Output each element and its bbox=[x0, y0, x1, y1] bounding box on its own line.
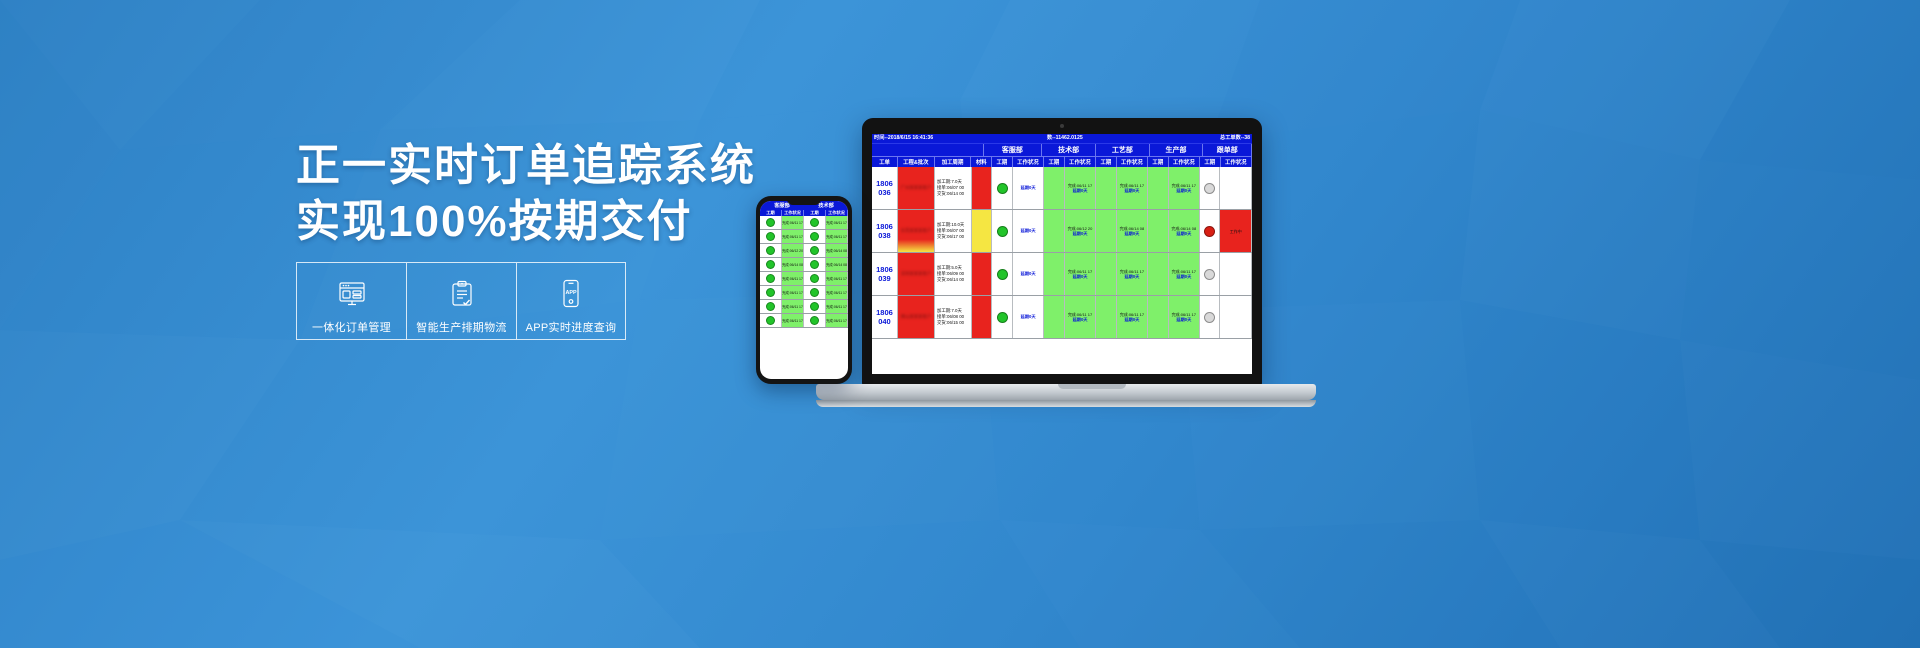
duration-cell-3[interactable] bbox=[1096, 253, 1116, 295]
phone-status-dot-1[interactable] bbox=[766, 246, 775, 255]
hero-copy: 正一实时订单追踪系统 实现100%按期交付 bbox=[296, 138, 716, 250]
work-status-cell-3[interactable]: 完成:06/11 17延期0天 bbox=[1117, 253, 1149, 295]
phone-status-cell-1[interactable]: 完成:06/11 17 bbox=[782, 286, 804, 299]
phone-duration-cell-1[interactable] bbox=[760, 272, 782, 285]
mobile-app-icon: APP bbox=[560, 276, 582, 312]
material-status-cell[interactable] bbox=[972, 210, 992, 252]
phone-duration-cell-1[interactable] bbox=[760, 216, 782, 229]
phone-status-dot-1[interactable] bbox=[766, 302, 775, 311]
dashboard-body[interactable]: 1806036广州某某某客户加工期:7.0天接单:06/07 00交货:06/1… bbox=[872, 167, 1252, 339]
phone-status-cell-1[interactable]: 完成:06/11 17 bbox=[782, 300, 804, 313]
phone-duration-cell-2[interactable] bbox=[804, 258, 826, 271]
phone-status-dot-1[interactable] bbox=[766, 288, 775, 297]
phone-status-cell-2[interactable]: 完成:06/11 17 bbox=[826, 230, 848, 243]
phone-duration-cell-2[interactable] bbox=[804, 314, 826, 327]
material-status-cell[interactable] bbox=[972, 167, 992, 209]
phone-status-dot-2[interactable] bbox=[810, 246, 819, 255]
phone-status-dot-2[interactable] bbox=[810, 302, 819, 311]
work-status-cell-1[interactable]: 延期0天 bbox=[1013, 296, 1045, 338]
duration-cell-4[interactable] bbox=[1148, 253, 1168, 295]
duration-cell-3[interactable] bbox=[1096, 210, 1116, 252]
duration-cell-3[interactable] bbox=[1096, 167, 1116, 209]
phone-dashboard-body[interactable]: 完成:06/11 17完成:06/11 17完成:06/11 17完成:06/1… bbox=[760, 216, 848, 328]
feature-box-app-progress[interactable]: APP APP实时进度查询 bbox=[516, 262, 626, 340]
duration-cell-5[interactable] bbox=[1200, 296, 1220, 338]
column-header-6[interactable]: 工作状况 bbox=[1013, 156, 1044, 167]
phone-list-item[interactable]: 完成:06/11 17完成:06/11 17 bbox=[760, 272, 848, 286]
duration-cell-4[interactable] bbox=[1148, 296, 1168, 338]
phone-duration-cell-2[interactable] bbox=[804, 286, 826, 299]
phone-notch bbox=[787, 199, 821, 205]
column-header-4[interactable]: 材料 bbox=[971, 156, 992, 167]
feature-box-group: 一体化订单管理 智能生产排期物流 bbox=[296, 262, 626, 340]
work-status-cell-4[interactable]: 完成:06/11 17延期0天 bbox=[1169, 167, 1201, 209]
phone-status-cell-2[interactable]: 完成:06/14 08 bbox=[826, 244, 848, 257]
column-header-14[interactable]: 工作状况 bbox=[1221, 156, 1252, 167]
phone-status-dot-2[interactable] bbox=[810, 218, 819, 227]
feature-label-app-progress: APP实时进度查询 bbox=[526, 319, 617, 335]
work-status-cell-3[interactable]: 完成:06/14 08延期0天 bbox=[1117, 210, 1149, 252]
order-tracking-dashboard: 时间--2018/6/15 16:41:36 数--11462.0125 总工单… bbox=[872, 134, 1252, 374]
table-row[interactable]: 1806039深圳某某某客户加工期:5.0天接单:06/09 00交货:06/1… bbox=[872, 253, 1252, 296]
duration-cell-3[interactable] bbox=[1096, 296, 1116, 338]
status-indicator-dot[interactable] bbox=[1204, 269, 1215, 280]
feature-label-order-management: 一体化订单管理 bbox=[312, 319, 391, 335]
phone-status-dot-2[interactable] bbox=[810, 260, 819, 269]
phone-list-item[interactable]: 完成:06/11 17完成:06/11 17 bbox=[760, 286, 848, 300]
status-indicator-dot[interactable] bbox=[997, 312, 1008, 323]
laptop-base-front bbox=[816, 400, 1316, 407]
order-number-cell[interactable]: 1806039 bbox=[872, 253, 898, 295]
phone-status-cell-1[interactable]: 完成:06/11 17 bbox=[782, 272, 804, 285]
phone-duration-cell-2[interactable] bbox=[804, 244, 826, 257]
work-status-cell-1[interactable]: 延期0天 bbox=[1013, 210, 1045, 252]
processing-cycle-cell[interactable]: 加工期:5.0天接单:06/09 00交货:06/14 00 bbox=[935, 253, 972, 295]
phone-duration-cell-1[interactable] bbox=[760, 244, 782, 257]
work-status-cell-3[interactable]: 完成:06/11 17延期0天 bbox=[1117, 167, 1149, 209]
status-indicator-dot[interactable] bbox=[1204, 226, 1215, 237]
feature-box-order-management[interactable]: 一体化订单管理 bbox=[296, 262, 406, 340]
dashboard-meta-row: 时间--2018/6/15 16:41:36 数--11462.0125 总工单… bbox=[872, 134, 1252, 143]
phone-list-item[interactable]: 完成:06/11 17完成:06/11 17 bbox=[760, 216, 848, 230]
phone-status-cell-2[interactable]: 完成:06/11 17 bbox=[826, 314, 848, 327]
column-header-3[interactable]: 加工周期 bbox=[935, 156, 972, 167]
material-status-cell[interactable] bbox=[972, 253, 992, 295]
phone-status-cell-1[interactable]: 完成:06/11 17 bbox=[782, 216, 804, 229]
laptop-screen: 时间--2018/6/15 16:41:36 数--11462.0125 总工单… bbox=[872, 134, 1252, 374]
phone-status-dot-1[interactable] bbox=[766, 316, 775, 325]
department-spacer bbox=[872, 144, 984, 156]
phone-status-dot-2[interactable] bbox=[810, 232, 819, 241]
phone-status-dot-1[interactable] bbox=[766, 232, 775, 241]
phone-status-dot-2[interactable] bbox=[810, 274, 819, 283]
project-batch-cell[interactable]: 广州某某某客户 bbox=[898, 167, 935, 209]
duration-cell-1[interactable] bbox=[992, 167, 1012, 209]
department-header-row: 客服部技术部工艺部生产部跟单部 bbox=[872, 143, 1252, 156]
material-status-cell[interactable] bbox=[972, 296, 992, 338]
phone-status-dot-2[interactable] bbox=[810, 316, 819, 325]
order-number-cell[interactable]: 1806038 bbox=[872, 210, 898, 252]
table-row[interactable]: 1806036广州某某某客户加工期:7.0天接单:06/07 00交货:06/1… bbox=[872, 167, 1252, 210]
table-row[interactable]: 1806038东莞某某某客户加工期:10.0天接单:06/07 00交货:06/… bbox=[872, 210, 1252, 253]
duration-cell-1[interactable] bbox=[992, 210, 1012, 252]
column-header-13[interactable]: 工期 bbox=[1200, 156, 1221, 167]
duration-cell-2[interactable] bbox=[1044, 167, 1064, 209]
phone-status-dot-2[interactable] bbox=[810, 288, 819, 297]
phone-device: 客服部技术部 工期工作状况工期工作状况 完成:06/11 17完成:06/11 … bbox=[756, 196, 852, 384]
webcam-icon bbox=[1060, 124, 1064, 128]
table-row[interactable]: 1806040佛山某某某客户加工期:7.0天接单:06/08 00交货:06/1… bbox=[872, 296, 1252, 339]
work-status-cell-2[interactable]: 完成:06/11 17延期0天 bbox=[1065, 253, 1097, 295]
duration-cell-5[interactable] bbox=[1200, 167, 1220, 209]
phone-status-cell-1[interactable]: 完成:06/12 20 bbox=[782, 244, 804, 257]
phone-duration-cell-1[interactable] bbox=[760, 286, 782, 299]
monitor-layout-icon bbox=[337, 276, 367, 312]
project-batch-cell[interactable]: 东莞某某某客户 bbox=[898, 210, 935, 252]
column-header-5[interactable]: 工期 bbox=[992, 156, 1013, 167]
order-number-cell[interactable]: 1806040 bbox=[872, 296, 898, 338]
phone-duration-cell-2[interactable] bbox=[804, 230, 826, 243]
department-header-3[interactable]: 工艺部 bbox=[1096, 144, 1150, 156]
department-header-2[interactable]: 技术部 bbox=[1042, 144, 1096, 156]
work-status-cell-4[interactable]: 完成:06/11 17延期0天 bbox=[1169, 296, 1201, 338]
laptop-device: 时间--2018/6/15 16:41:36 数--11462.0125 总工单… bbox=[862, 118, 1322, 418]
phone-status-cell-2[interactable]: 完成:06/11 17 bbox=[826, 216, 848, 229]
phone-status-cell-1[interactable]: 完成:06/11 17 bbox=[782, 230, 804, 243]
work-status-cell-2[interactable]: 完成:06/12 20延期0天 bbox=[1065, 210, 1097, 252]
work-status-cell-1[interactable]: 延期0天 bbox=[1013, 167, 1045, 209]
duration-cell-5[interactable] bbox=[1200, 210, 1220, 252]
phone-status-cell-1[interactable]: 完成:06/14 08 bbox=[782, 258, 804, 271]
work-status-cell-5[interactable] bbox=[1220, 253, 1252, 295]
phone-duration-cell-1[interactable] bbox=[760, 300, 782, 313]
feature-box-production-logistics[interactable]: 智能生产排期物流 bbox=[406, 262, 516, 340]
duration-cell-5[interactable] bbox=[1200, 253, 1220, 295]
dashboard-timestamp: 时间--2018/6/15 16:41:36 bbox=[874, 135, 1047, 142]
promo-banner: 正一实时订单追踪系统 实现100%按期交付 一体化订单管理 bbox=[0, 0, 1920, 648]
work-status-cell-1[interactable]: 延期0天 bbox=[1013, 253, 1045, 295]
laptop-lid: 时间--2018/6/15 16:41:36 数--11462.0125 总工单… bbox=[862, 118, 1262, 386]
dashboard-count: 数--11462.0125 bbox=[1047, 135, 1083, 142]
work-status-cell-2[interactable]: 完成:06/11 17延期0天 bbox=[1065, 296, 1097, 338]
svg-text:APP: APP bbox=[565, 290, 576, 296]
column-header-12[interactable]: 工作状况 bbox=[1169, 156, 1200, 167]
duration-cell-2[interactable] bbox=[1044, 210, 1064, 252]
phone-screen: 客服部技术部 工期工作状况工期工作状况 完成:06/11 17完成:06/11 … bbox=[760, 201, 848, 379]
project-batch-cell[interactable]: 深圳某某某客户 bbox=[898, 253, 935, 295]
duration-cell-4[interactable] bbox=[1148, 167, 1168, 209]
column-header-1[interactable]: 工单 bbox=[872, 156, 898, 167]
column-header-7[interactable]: 工期 bbox=[1044, 156, 1065, 167]
clipboard-checklist-icon bbox=[448, 276, 476, 312]
dashboard-header: 时间--2018/6/15 16:41:36 数--11462.0125 总工单… bbox=[872, 134, 1252, 167]
work-status-cell-5[interactable] bbox=[1220, 296, 1252, 338]
processing-cycle-cell[interactable]: 加工期:10.0天接单:06/07 00交货:06/17 00 bbox=[935, 210, 972, 252]
column-header-2[interactable]: 工程&批次 bbox=[898, 156, 935, 167]
headline-line-2: 实现100%按期交付 bbox=[296, 194, 716, 250]
department-header-4[interactable]: 生产部 bbox=[1150, 144, 1204, 156]
duration-cell-1[interactable] bbox=[992, 253, 1012, 295]
processing-cycle-cell[interactable]: 加工期:7.0天接单:06/07 00交货:06/14 00 bbox=[935, 167, 972, 209]
column-header-11[interactable]: 工期 bbox=[1148, 156, 1169, 167]
status-indicator-dot[interactable] bbox=[997, 183, 1008, 194]
status-indicator-dot[interactable] bbox=[997, 226, 1008, 237]
status-indicator-dot[interactable] bbox=[1204, 183, 1215, 194]
status-indicator-dot[interactable] bbox=[1204, 312, 1215, 323]
processing-cycle-cell[interactable]: 加工期:7.0天接单:06/08 00交货:06/15 00 bbox=[935, 296, 972, 338]
phone-list-item[interactable]: 完成:06/11 17完成:06/11 17 bbox=[760, 300, 848, 314]
phone-status-cell-2[interactable]: 完成:06/14 08 bbox=[826, 258, 848, 271]
column-header-10[interactable]: 工作状况 bbox=[1117, 156, 1148, 167]
phone-status-cell-2[interactable]: 完成:06/11 17 bbox=[826, 300, 848, 313]
phone-status-dot-1[interactable] bbox=[766, 260, 775, 269]
work-status-cell-2[interactable]: 完成:06/11 17延期0天 bbox=[1065, 167, 1097, 209]
dashboard-total-orders: 总工单数--38 bbox=[1220, 135, 1250, 142]
phone-status-dot-1[interactable] bbox=[766, 218, 775, 227]
work-status-cell-4[interactable]: 完成:06/14 08延期0天 bbox=[1169, 210, 1201, 252]
phone-list-item[interactable]: 完成:06/14 08完成:06/14 08 bbox=[760, 258, 848, 272]
phone-list-item[interactable]: 完成:06/11 17完成:06/11 17 bbox=[760, 230, 848, 244]
phone-list-item[interactable]: 完成:06/11 17完成:06/11 17 bbox=[760, 314, 848, 328]
column-header-8[interactable]: 工作状况 bbox=[1065, 156, 1096, 167]
work-status-cell-3[interactable]: 完成:06/11 17延期0天 bbox=[1117, 296, 1149, 338]
phone-duration-cell-2[interactable] bbox=[804, 216, 826, 229]
phone-list-item[interactable]: 完成:06/12 20完成:06/14 08 bbox=[760, 244, 848, 258]
phone-duration-cell-1[interactable] bbox=[760, 230, 782, 243]
feature-label-production-logistics: 智能生产排期物流 bbox=[416, 319, 506, 335]
phone-status-dot-1[interactable] bbox=[766, 274, 775, 283]
phone-duration-cell-2[interactable] bbox=[804, 272, 826, 285]
project-batch-cell[interactable]: 佛山某某某客户 bbox=[898, 296, 935, 338]
duration-cell-4[interactable] bbox=[1148, 210, 1168, 252]
order-number-cell[interactable]: 1806036 bbox=[872, 167, 898, 209]
duration-cell-1[interactable] bbox=[992, 296, 1012, 338]
duration-cell-2[interactable] bbox=[1044, 296, 1064, 338]
status-indicator-dot[interactable] bbox=[997, 269, 1008, 280]
column-header-9[interactable]: 工期 bbox=[1096, 156, 1117, 167]
headline-line-1: 正一实时订单追踪系统 bbox=[296, 138, 716, 194]
phone-duration-cell-1[interactable] bbox=[760, 258, 782, 271]
phone-duration-cell-2[interactable] bbox=[804, 300, 826, 313]
column-header-row: 工单工程&批次加工周期材料工期工作状况工期工作状况工期工作状况工期工作状况工期工… bbox=[872, 156, 1252, 167]
work-status-cell-4[interactable]: 完成:06/11 17延期0天 bbox=[1169, 253, 1201, 295]
department-header-1[interactable]: 客服部 bbox=[984, 144, 1043, 156]
laptop-base-notch bbox=[1058, 384, 1126, 389]
duration-cell-2[interactable] bbox=[1044, 253, 1064, 295]
work-status-cell-5[interactable] bbox=[1220, 167, 1252, 209]
phone-status-cell-2[interactable]: 完成:06/11 17 bbox=[826, 272, 848, 285]
phone-status-cell-2[interactable]: 完成:06/11 17 bbox=[826, 286, 848, 299]
work-status-cell-5[interactable]: 工作中 bbox=[1220, 210, 1252, 252]
phone-duration-cell-1[interactable] bbox=[760, 314, 782, 327]
department-header-5[interactable]: 跟单部 bbox=[1203, 144, 1252, 156]
phone-status-cell-1[interactable]: 完成:06/11 17 bbox=[782, 314, 804, 327]
